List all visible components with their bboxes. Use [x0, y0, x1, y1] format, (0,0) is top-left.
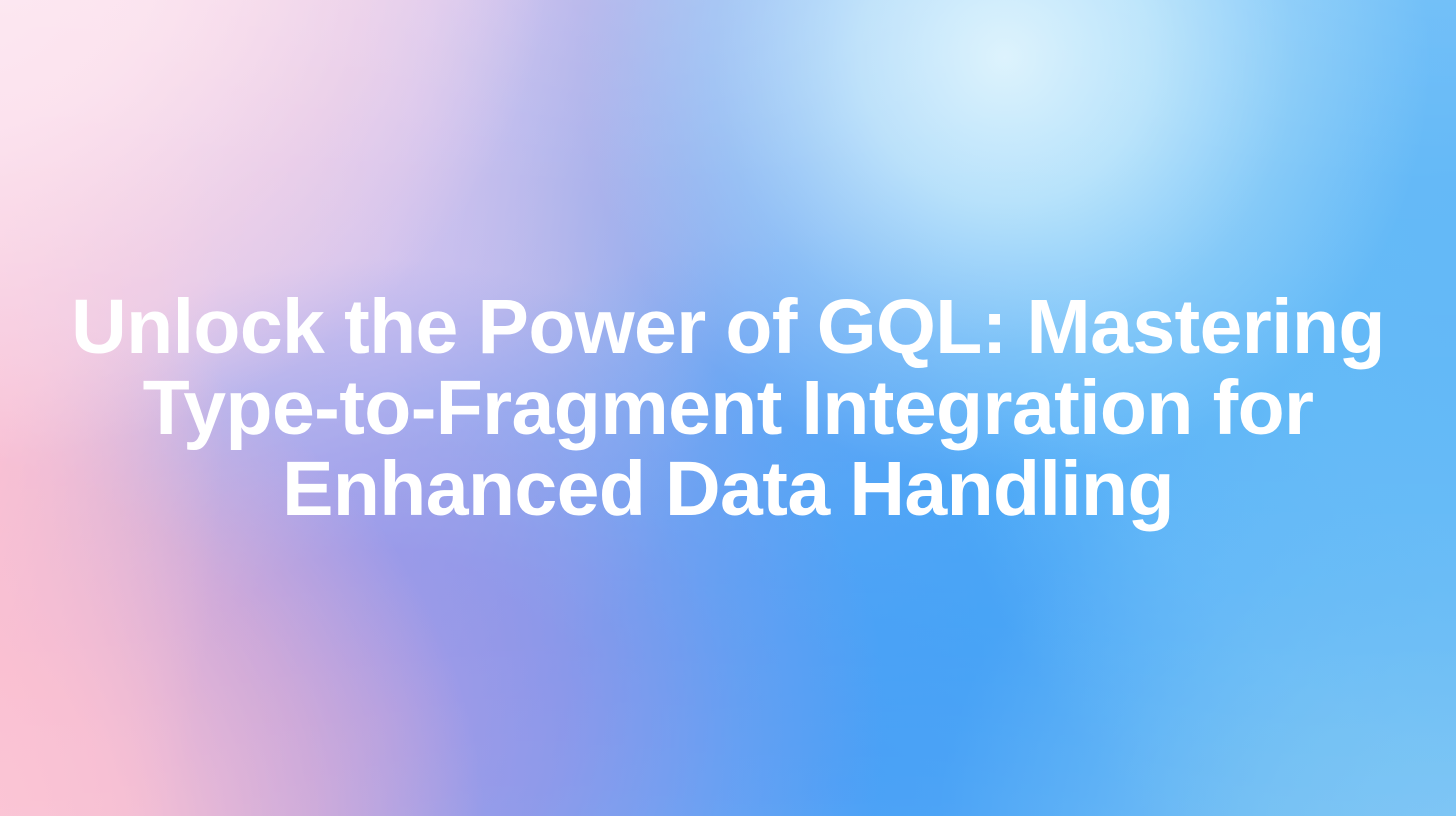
hero-content: Unlock the Power of GQL: Mastering Type-…: [0, 0, 1456, 816]
hero-banner: Unlock the Power of GQL: Mastering Type-…: [0, 0, 1456, 816]
banner-title: Unlock the Power of GQL: Mastering Type-…: [10, 287, 1446, 530]
